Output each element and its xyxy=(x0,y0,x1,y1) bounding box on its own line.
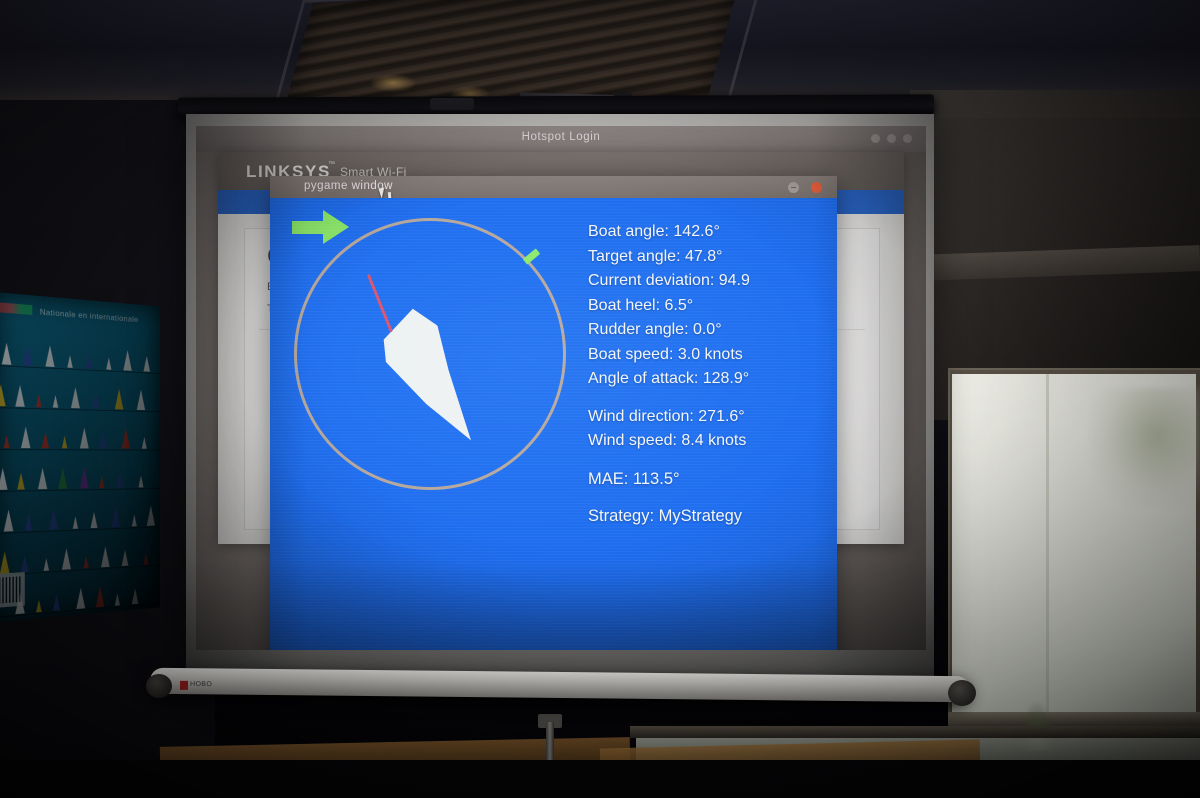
telemetry-row: Boat heel: 6.5° xyxy=(588,294,828,319)
telemetry-row: Rudder angle: 0.0° xyxy=(588,318,828,343)
photo-scene: Nationale en internationale xyxy=(0,0,1200,798)
window-lower-rail xyxy=(630,726,1200,738)
strategy-row: Strategy: MyStrategy xyxy=(588,504,828,529)
telemetry-row: Target angle: 47.8° xyxy=(588,245,828,270)
window-sill xyxy=(948,712,1200,726)
boat-hull-icon xyxy=(368,306,480,446)
roller-logo-mark xyxy=(180,681,188,690)
close-icon[interactable] xyxy=(903,134,912,143)
trademark-icon: ™ xyxy=(328,161,335,168)
os-window-titlebar[interactable]: Hotspot Login xyxy=(196,126,926,152)
wind-row: Wind speed: 8.4 knots xyxy=(588,429,828,454)
wind-direction-arrow-icon xyxy=(292,210,350,244)
ceiling-lamp-glow-left xyxy=(370,74,416,92)
window-foliage xyxy=(1090,388,1200,508)
arrow-head xyxy=(323,210,349,244)
spacer xyxy=(588,392,828,405)
roller-logo-text: HOBO xyxy=(190,681,212,688)
mae-row: MAE: 113.5° xyxy=(588,467,828,492)
roller-end-left xyxy=(146,674,172,698)
pygame-window: pygame window Boat angle: 142.6° xyxy=(270,176,837,650)
minimize-icon[interactable] xyxy=(871,134,880,143)
telemetry-row: Boat angle: 142.6° xyxy=(588,220,828,245)
telemetry-row: Current deviation: 94.9 xyxy=(588,269,828,294)
os-window-controls[interactable] xyxy=(871,134,912,143)
roller-logo: HOBO xyxy=(180,681,214,690)
telemetry-panel: Boat angle: 142.6° Target angle: 47.8° C… xyxy=(588,220,828,529)
floor xyxy=(0,760,1200,798)
arrow-shaft xyxy=(292,221,326,234)
close-icon[interactable] xyxy=(811,182,822,193)
telemetry-row: Angle of attack: 128.9° xyxy=(588,367,828,392)
target-angle-tick-icon xyxy=(523,248,541,264)
sailboat-classes-poster: Nationale en internationale xyxy=(0,292,160,622)
maximize-icon[interactable] xyxy=(887,134,896,143)
poster-shadow-overlay xyxy=(0,292,160,622)
wind-row: Wind direction: 271.6° xyxy=(588,405,828,430)
pygame-titlebar[interactable]: pygame window xyxy=(270,176,837,198)
roller-end-right xyxy=(948,680,976,706)
window-mullion xyxy=(1046,374,1049,712)
spacer xyxy=(588,491,828,504)
projected-desktop: Hotspot Login LINKSYS ™ Smart Wi-Fi G En… xyxy=(196,126,926,650)
projector-screen-housing-cap xyxy=(430,98,474,110)
telemetry-row: Boat speed: 3.0 knots xyxy=(588,343,828,368)
os-window-title: Hotspot Login xyxy=(196,131,926,143)
spacer xyxy=(588,454,828,467)
simulation-canvas[interactable]: Boat angle: 142.6° Target angle: 47.8° C… xyxy=(270,198,837,650)
boat-indicator xyxy=(368,306,480,446)
minimize-icon[interactable] xyxy=(788,182,799,193)
